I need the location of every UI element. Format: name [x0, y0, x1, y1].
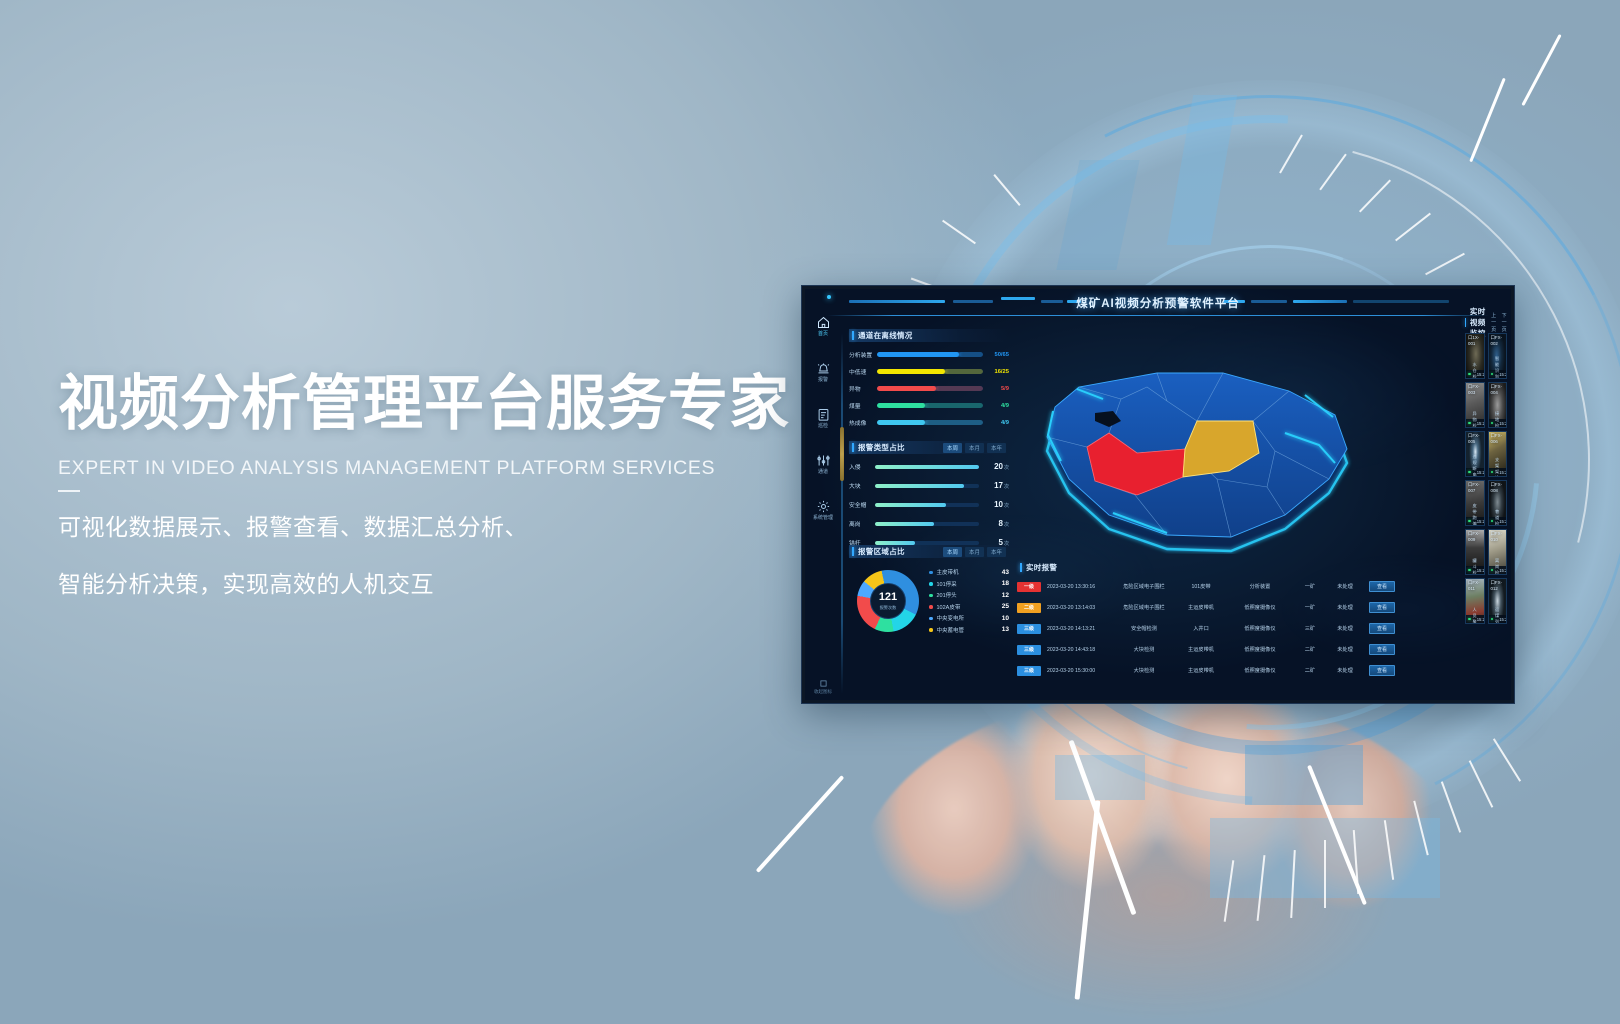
camera-timestamp: 15:20:30 — [1477, 519, 1485, 524]
alarm-panel-title: 实时报警 — [1026, 562, 1057, 573]
legend-value: 25 — [1002, 603, 1009, 610]
camera-id: 口FX-002 — [1491, 335, 1507, 346]
alarm-type-panel: 报警类型占比 本周本月本年 入侵 20次 大块 17次 安全帽 10次 离岗 8… — [849, 441, 1009, 552]
dashboard-screen: 煤矿AI视频分析预警软件平台 首页 报警 — [805, 289, 1511, 700]
area-panel-title: 报警区域占比 — [858, 546, 905, 557]
alarm-table-body: 一级 2023-03-20 13:30:16 危险区域电子围栏 101皮带 分析… — [1017, 576, 1455, 681]
video-tile[interactable]: 口FX-009 罐斗检管 15:20:30 — [1465, 529, 1485, 575]
alarm-type-bar-track — [875, 484, 979, 488]
table-row: 一级 2023-03-20 13:30:16 危险区域电子围栏 101皮带 分析… — [1017, 576, 1455, 597]
channel-value: 4/9 — [983, 420, 1009, 426]
alarm-type-bar-fill — [875, 503, 946, 507]
view-button[interactable]: 查看 — [1369, 665, 1395, 676]
hero-text-block: 视频分析管理平台服务专家 EXPERT IN VIDEO ANALYSIS MA… — [58, 372, 848, 605]
alarm-panel-header: 实时报警 — [1017, 561, 1455, 574]
alarm-status: 未处理 — [1327, 646, 1363, 653]
status-badge: 二级 — [1017, 603, 1041, 613]
channel-value: 4/9 — [983, 403, 1009, 409]
donut-total-label: 报警次数 — [880, 605, 897, 611]
sidebar-accent-marker — [840, 427, 844, 481]
legend-name: 201停头 — [937, 591, 1002, 599]
legend-color-dot — [929, 594, 933, 598]
video-tile-footer: 水仓检测 15:20:30 — [1466, 370, 1484, 378]
alarm-type: 危险区域电子围栏 — [1113, 604, 1175, 611]
donut-legend-row: 102A皮带 25 — [929, 601, 1009, 613]
channel-bar-remainder — [959, 352, 983, 357]
panel-accent-bar — [852, 331, 854, 340]
legend-value: 10 — [1002, 615, 1009, 622]
view-button[interactable]: 查看 — [1369, 644, 1395, 655]
channel-value: 50/65 — [983, 352, 1009, 358]
channel-row: 异物 5/9 — [849, 380, 1009, 397]
area-panel-tabs: 本周本月本年 — [943, 547, 1009, 557]
view-button[interactable]: 查看 — [1369, 602, 1395, 613]
camera-timestamp: 15:20:30 — [1499, 470, 1507, 475]
camera-id: 口FX-012 — [1491, 580, 1507, 591]
channel-label: 分析装置 — [849, 350, 877, 359]
alarm-type-bar-track — [875, 465, 979, 469]
donut-legend-row: 101停采 18 — [929, 578, 1009, 590]
alarm-time: 2023-03-20 14:13:21 — [1047, 626, 1113, 632]
sidebar-item-alarm[interactable]: 报警 — [805, 349, 841, 395]
camera-timestamp: 15:20:30 — [1499, 421, 1507, 426]
alarm-type-value: 20次 — [979, 462, 1009, 471]
video-tile-footer: 接地检测 15:20:30 — [1489, 419, 1507, 427]
video-tile-footer: 违规断电停写 15:20:30 — [1466, 468, 1484, 476]
online-status-dot — [1491, 471, 1494, 474]
alarm-area-tab[interactable]: 本月 — [965, 547, 984, 557]
camera-timestamp: 15:20:30 — [1477, 470, 1485, 475]
camera-id: 口FX-004 — [1491, 384, 1507, 395]
video-tile[interactable]: 口FX-011 人员聚向 15:20:30 — [1465, 578, 1485, 624]
video-tile[interactable]: 口FX-008 巷道检测 15:20:30 — [1488, 480, 1508, 526]
alarm-type-label: 离岗 — [849, 519, 875, 528]
status-badge: 三级 — [1017, 624, 1041, 634]
video-tile-footer: 罐斗检管 15:20:30 — [1466, 566, 1484, 574]
video-tile[interactable]: 口FX-005 违规断电停写 15:20:30 — [1465, 431, 1485, 477]
prev-page-button[interactable]: 上一页 — [1491, 312, 1496, 333]
camera-id: 口1X-001 — [1468, 335, 1484, 346]
video-tile[interactable]: 口FX-012 运煤列列 15:20:30 — [1488, 578, 1508, 624]
alarm-type: 危险区域电子围栏 — [1113, 583, 1175, 590]
alarm-type-label: 入侵 — [849, 462, 875, 471]
donut-legend-row: 201停头 12 — [929, 590, 1009, 602]
map-svg — [1017, 329, 1407, 554]
alarm-type-value: 8次 — [979, 519, 1009, 528]
alarm-status: 未处理 — [1327, 667, 1363, 674]
header-underline — [827, 315, 1489, 316]
legend-value: 18 — [1002, 580, 1009, 587]
alarm-device: 分析装置 — [1227, 583, 1293, 590]
online-status-dot — [1468, 422, 1471, 425]
type-panel-tabs: 本周本月本年 — [943, 443, 1009, 453]
legend-name: 中央蓄电管 — [937, 626, 1002, 634]
channel-rows: 分析装置 50/65 中低速 16/25 异物 5/9 煤量 4/9 热成像 — [849, 346, 1009, 431]
realtime-alarm-panel: 实时报警 一级 2023-03-20 13:30:16 危险区域电子围栏 101… — [1017, 561, 1455, 694]
dashboard-title: 煤矿AI视频分析预警软件平台 — [805, 295, 1511, 311]
channel-bar-track — [877, 369, 983, 374]
online-status-dot — [1491, 569, 1494, 572]
alarm-status: 未处理 — [1327, 604, 1363, 611]
alarm-type-bar-track — [875, 522, 979, 526]
alarm-type-row: 大块 17次 — [849, 476, 1009, 495]
video-tile[interactable]: 口FX-010 离岗检测 15:20:30 — [1488, 529, 1508, 575]
alarm-type-bar-fill — [875, 484, 964, 488]
alarm-type-rows: 入侵 20次 大块 17次 安全帽 10次 离岗 8次 锚杆 5次 — [849, 457, 1009, 552]
channel-label: 热成像 — [849, 418, 877, 427]
alarm-type-row: 入侵 20次 — [849, 457, 1009, 476]
alarm-type-row: 离岗 8次 — [849, 514, 1009, 533]
next-page-button[interactable]: 下一页 — [1502, 312, 1507, 333]
channel-bar-track — [877, 386, 983, 391]
table-row: 二级 2023-03-20 13:14:03 危险区域电子围栏 主运皮带机 低照… — [1017, 597, 1455, 618]
legend-color-dot — [929, 628, 933, 632]
alarm-type-unit: 次 — [1004, 465, 1009, 471]
channel-bar-remainder — [925, 403, 983, 408]
video-tile-footer: 智能识别检测 15:20:30 — [1489, 370, 1507, 378]
alarm-time: 2023-03-20 13:30:16 — [1047, 584, 1113, 590]
table-row: 三级 2023-03-20 14:13:21 安全帽检测 入井口 低照度摄像仪 … — [1017, 618, 1455, 639]
alarm-type-value: 10次 — [979, 500, 1009, 509]
view-button[interactable]: 查看 — [1369, 623, 1395, 634]
camera-id: 口FX-010 — [1491, 531, 1507, 542]
video-tile-footer: 运煤列列 15:20:30 — [1489, 615, 1507, 623]
status-badge: 三级 — [1017, 645, 1041, 655]
channel-bar-fill — [877, 386, 936, 391]
camera-timestamp: 15:20:30 — [1477, 568, 1485, 573]
alarm-device: 低照度摄像仪 — [1227, 646, 1293, 653]
status-badge: 一级 — [1017, 582, 1041, 592]
online-status-dot — [1468, 373, 1471, 376]
alarm-time: 2023-03-20 13:14:03 — [1047, 605, 1113, 611]
donut-legend: 主皮带机 43 101停采 18 201停头 12 102A皮带 25 中央变电… — [929, 567, 1009, 636]
channel-value: 16/25 — [983, 369, 1009, 375]
status-badge: 三级 — [1017, 666, 1041, 676]
alarm-type: 大块检测 — [1113, 646, 1175, 653]
alarm-type: 安全帽检测 — [1113, 625, 1175, 632]
legend-color-dot — [929, 582, 933, 586]
channel-value: 5/9 — [983, 386, 1009, 392]
province-map[interactable] — [1017, 329, 1407, 554]
alarm-location: 主运皮带机 — [1175, 667, 1227, 674]
video-tile-footer: 人员聚向 15:20:30 — [1466, 615, 1484, 623]
channel-row: 分析装置 50/65 — [849, 346, 1009, 363]
legend-name: 中央变电所 — [937, 614, 1002, 622]
panel-accent-bar — [852, 443, 854, 452]
donut-legend-row: 主皮带机 43 — [929, 567, 1009, 579]
sidebar-divider — [841, 333, 843, 694]
channel-row: 中低速 16/25 — [849, 363, 1009, 380]
channel-label: 中低速 — [849, 367, 877, 376]
video-tile[interactable]: 口FX-006 支架架检测 15:20:30 — [1488, 431, 1508, 477]
alarm-type-tab[interactable]: 本年 — [987, 443, 1006, 453]
online-status-dot — [1491, 618, 1494, 621]
legend-name: 101停采 — [937, 580, 1002, 588]
video-tile-footer: 巷道检测 15:20:30 — [1489, 517, 1507, 525]
channel-bar-fill — [877, 420, 925, 425]
alarm-device: 低照度摄像仪 — [1227, 604, 1293, 611]
channel-bar-remainder — [945, 369, 983, 374]
online-status-dot — [1491, 520, 1494, 523]
sidebar-collapse-button[interactable]: 收起图标 — [805, 675, 841, 695]
video-tile[interactable]: 口FX-004 接地检测 15:20:30 — [1488, 382, 1508, 428]
channel-label: 异物 — [849, 384, 877, 393]
alarm-area-tab[interactable]: 本年 — [987, 547, 1006, 557]
type-panel-title: 报警类型占比 — [858, 442, 905, 453]
legend-color-dot — [929, 571, 933, 575]
ray-line-8 — [1324, 840, 1326, 908]
alarm-location: 主运皮带机 — [1175, 604, 1227, 611]
video-tile-footer: 皮带跑偏检测 15:20:30 — [1466, 517, 1484, 525]
sidebar-label-system: 系统管理 — [813, 516, 833, 521]
sidebar-label-inspection: 巡检 — [818, 424, 828, 429]
alarm-icon — [816, 361, 831, 376]
video-grid: 口1X-001 水仓检测 15:20:30 口FX-002 智能识别检测 15:… — [1465, 333, 1507, 624]
online-status-dot — [1468, 569, 1471, 572]
alarm-type: 大块检测 — [1113, 667, 1175, 674]
alarm-type-label: 大块 — [849, 481, 875, 490]
monitor-device: 煤矿AI视频分析预警软件平台 首页 报警 — [801, 285, 1515, 704]
alarm-status: 未处理 — [1327, 625, 1363, 632]
camera-timestamp: 15:20:30 — [1477, 372, 1485, 377]
channel-bar-track — [877, 403, 983, 408]
hero-subtitle: EXPERT IN VIDEO ANALYSIS MANAGEMENT PLAT… — [58, 457, 848, 480]
legend-name: 主皮带机 — [937, 568, 1002, 576]
channel-bar-track — [877, 352, 983, 357]
ray-line-24 — [1521, 34, 1561, 106]
alarm-type-unit: 次 — [1004, 484, 1009, 490]
clipboard-icon — [816, 407, 831, 422]
video-pager: 上一页 下一页 — [1491, 312, 1507, 333]
online-status-dot — [1491, 373, 1494, 376]
donut-chart: 121 报警次数 — [857, 570, 919, 632]
channel-bar-fill — [877, 403, 925, 408]
camera-timestamp: 15:20:30 — [1499, 617, 1507, 622]
legend-value: 43 — [1002, 569, 1009, 576]
alarm-type-bar-fill — [875, 541, 915, 545]
channel-bar-fill — [877, 352, 959, 357]
alarm-status: 未处理 — [1327, 583, 1363, 590]
page-title: 视频分析管理平台服务专家 — [58, 372, 848, 435]
video-tile[interactable]: 口FX-007 皮带跑偏检测 15:20:30 — [1465, 480, 1485, 526]
camera-id: 口FX-003 — [1468, 384, 1484, 395]
video-tile-footer: 支架架检测 15:20:30 — [1489, 468, 1507, 476]
table-row: 三级 2023-03-20 15:30:00 大块检测 主运皮带机 低照度摄像仪… — [1017, 660, 1455, 681]
alarm-location: 101皮带 — [1175, 583, 1227, 590]
channel-bar-fill — [877, 369, 945, 374]
alarm-mine: 一矿 — [1293, 583, 1327, 590]
alarm-area-tab[interactable]: 本周 — [943, 547, 962, 557]
area-panel-header: 报警区域占比 本周本月本年 — [849, 545, 1009, 558]
alarm-type-bar-fill — [875, 522, 934, 526]
online-status-dot — [1468, 520, 1471, 523]
home-icon — [816, 315, 831, 330]
alarm-device: 低照度摄像仪 — [1227, 667, 1293, 674]
camera-timestamp: 15:20:30 — [1499, 372, 1507, 377]
legend-value: 13 — [1002, 626, 1009, 633]
channel-bar-remainder — [925, 420, 983, 425]
online-status-dot — [1468, 618, 1471, 621]
channel-online-panel: 通道在离线情况 分析装置 50/65 中低速 16/25 异物 5/9 煤量 — [849, 329, 1009, 431]
left-column: 通道在离线情况 分析装置 50/65 中低速 16/25 异物 5/9 煤量 — [849, 329, 1009, 694]
panel-accent-bar — [1465, 318, 1466, 327]
video-panel-header: 实时视频监控 上一页 下一页 — [1465, 315, 1507, 329]
video-tile[interactable]: 口1X-001 水仓检测 15:20:30 — [1465, 333, 1485, 379]
panel-accent-bar — [852, 547, 854, 556]
alarm-type-unit: 次 — [1004, 503, 1009, 509]
camera-id: 口FX-011 — [1468, 580, 1484, 591]
dashboard-header: 煤矿AI视频分析预警软件平台 — [805, 289, 1511, 323]
accent-rect-1 — [1245, 745, 1363, 805]
camera-id: 口FX-007 — [1468, 482, 1484, 493]
sidebar-item-inspection[interactable]: 巡检 — [805, 395, 841, 441]
camera-timestamp: 15:20:30 — [1477, 617, 1485, 622]
camera-timestamp: 15:20:30 — [1499, 568, 1507, 573]
legend-color-dot — [929, 605, 933, 609]
donut-legend-row: 中央蓄电管 13 — [929, 624, 1009, 636]
donut-legend-row: 中央变电所 10 — [929, 613, 1009, 625]
sidebar-label-home: 首页 — [818, 332, 828, 337]
camera-id: 口FX-005 — [1468, 433, 1484, 444]
camera-id: 口FX-006 — [1491, 433, 1507, 444]
sidebar-item-channel[interactable]: 通道 — [805, 441, 841, 487]
alarm-type-tab[interactable]: 本周 — [943, 443, 962, 453]
alarm-time: 2023-03-20 15:30:00 — [1047, 668, 1113, 674]
alarm-type-value: 17次 — [979, 481, 1009, 490]
channel-row: 煤量 4/9 — [849, 397, 1009, 414]
online-status-dot — [1491, 422, 1494, 425]
hero-description-line-1: 可视化数据展示、报警查看、数据汇总分析、 — [58, 506, 848, 549]
alarm-type-bar-fill — [875, 465, 979, 469]
alarm-mine: 二矿 — [1293, 667, 1327, 674]
sidebar-collapse-label: 收起图标 — [805, 690, 841, 695]
camera-id: 口FX-009 — [1468, 531, 1484, 542]
channel-bar-remainder — [936, 386, 983, 391]
channel-label: 煤量 — [849, 401, 877, 410]
sidebar-label-alarm: 报警 — [818, 378, 828, 383]
alarm-area-donut-block: 121 报警次数 主皮带机 43 101停采 18 201停头 12 102A皮… — [849, 561, 1009, 641]
camera-id: 口FX-008 — [1491, 482, 1507, 493]
table-row: 三级 2023-03-20 14:43:18 大块检测 主运皮带机 低照度摄像仪… — [1017, 639, 1455, 660]
sidebar-label-channel: 通道 — [818, 470, 828, 475]
alarm-mine: 三矿 — [1293, 625, 1327, 632]
alarm-location: 入井口 — [1175, 625, 1227, 632]
collapse-icon — [816, 675, 831, 690]
type-panel-header: 报警类型占比 本周本月本年 — [849, 441, 1009, 454]
channel-panel-header: 通道在离线情况 — [849, 329, 1009, 342]
channel-icon — [816, 453, 831, 468]
channel-row: 热成像 4/9 — [849, 414, 1009, 431]
alarm-type-bar-track — [875, 503, 979, 507]
donut-center: 121 报警次数 — [870, 583, 906, 619]
sidebar-item-system[interactable]: 系统管理 — [805, 487, 841, 533]
video-tile[interactable]: 口FX-003 异物检测 15:20:30 — [1465, 382, 1485, 428]
hero-divider — [58, 490, 80, 492]
legend-color-dot — [929, 617, 933, 621]
sidebar-item-home[interactable]: 首页 — [805, 303, 841, 349]
video-tile-footer: 异物检测 15:20:30 — [1466, 419, 1484, 427]
legend-value: 12 — [1002, 592, 1009, 599]
donut-total-value: 121 — [879, 592, 897, 603]
legend-name: 102A皮带 — [937, 603, 1002, 611]
alarm-type-tab[interactable]: 本月 — [965, 443, 984, 453]
alarm-device: 低照度摄像仪 — [1227, 625, 1293, 632]
alarm-mine: 二矿 — [1293, 646, 1327, 653]
ray-line-1 — [756, 775, 845, 873]
gear-icon — [816, 499, 831, 514]
alarm-mine: 一矿 — [1293, 604, 1327, 611]
video-tile[interactable]: 口FX-002 智能识别检测 15:20:30 — [1488, 333, 1508, 379]
alarm-type-row: 安全帽 10次 — [849, 495, 1009, 514]
camera-timestamp: 15:20:30 — [1499, 519, 1507, 524]
video-monitor-panel: 实时视频监控 上一页 下一页 口1X-001 水仓检测 15:20:30 口FX… — [1465, 315, 1507, 694]
alarm-area-panel: 报警区域占比 本周本月本年 — [849, 545, 1009, 558]
alarm-time: 2023-03-20 14:43:18 — [1047, 647, 1113, 653]
view-button[interactable]: 查看 — [1369, 581, 1395, 592]
alarm-type-unit: 次 — [1004, 522, 1009, 528]
hero-description-line-2: 智能分析决策，实现高效的人机交互 — [58, 563, 848, 606]
panel-accent-bar — [1020, 563, 1022, 572]
alarm-type-label: 安全帽 — [849, 500, 875, 509]
channel-panel-title: 通道在离线情况 — [858, 330, 913, 341]
sidebar-nav: 首页 报警 巡检 — [805, 303, 841, 700]
accent-rect-3 — [1055, 755, 1145, 800]
channel-bar-track — [877, 420, 983, 425]
alarm-type-bar-track — [875, 541, 979, 545]
alarm-location: 主运皮带机 — [1175, 646, 1227, 653]
online-status-dot — [1468, 471, 1471, 474]
camera-timestamp: 15:20:30 — [1477, 421, 1485, 426]
video-tile-footer: 离岗检测 15:20:30 — [1489, 566, 1507, 574]
